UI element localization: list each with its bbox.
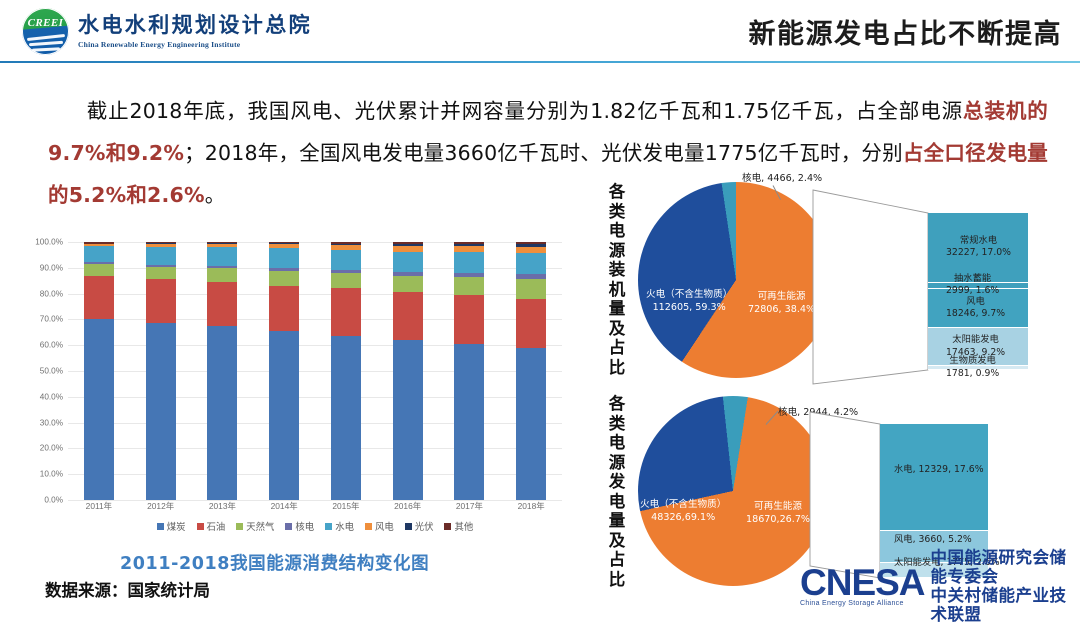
stacked-bar bbox=[454, 242, 484, 500]
bar-segment-煤炭 bbox=[207, 326, 237, 500]
creei-logo-icon: CREEI bbox=[22, 8, 69, 55]
bar-segment-石油 bbox=[516, 299, 546, 348]
breakout-label: 生物质发电1781, 0.9% bbox=[946, 355, 999, 380]
org-name-en: China Renewable Energy Engineering Insti… bbox=[78, 40, 312, 49]
bar-segment-煤炭 bbox=[516, 348, 546, 500]
x-axis-tick-label: 2011年 bbox=[75, 500, 123, 512]
legend-label: 光伏 bbox=[415, 519, 434, 533]
legend-swatch-icon bbox=[325, 523, 332, 530]
legend-item-核电[interactable]: 核电 bbox=[285, 519, 314, 533]
page-title: 新能源发电占比不断提高 bbox=[749, 12, 1063, 51]
bar-segment-天然气 bbox=[84, 264, 114, 276]
wave-icon bbox=[32, 47, 60, 51]
y-axis-tick-label: 10.0% bbox=[40, 470, 63, 479]
legend-item-煤炭[interactable]: 煤炭 bbox=[157, 519, 186, 533]
legend-swatch-icon bbox=[365, 523, 372, 530]
legend-label: 风电 bbox=[375, 519, 394, 533]
legend-swatch-icon bbox=[444, 523, 451, 530]
bar-segment-水电 bbox=[331, 250, 361, 270]
y-axis-tick-label: 80.0% bbox=[40, 289, 63, 298]
bar-segment-天然气 bbox=[393, 276, 423, 292]
bar-segment-煤炭 bbox=[84, 319, 114, 500]
bar-group bbox=[68, 242, 562, 500]
stacked-bar bbox=[84, 242, 114, 500]
bar-segment-煤炭 bbox=[393, 340, 423, 500]
bar-segment-风电 bbox=[516, 247, 546, 254]
stacked-bar bbox=[269, 242, 299, 500]
breakout-label-value: 18246, 9.7% bbox=[946, 308, 1005, 321]
y-axis-tick-label: 90.0% bbox=[40, 263, 63, 272]
bar-segment-天然气 bbox=[331, 273, 361, 288]
bar-segment-煤炭 bbox=[331, 336, 361, 500]
capacity-pie-block: 各类电源装机量及占比 火电（不含生物质）112605, 59.3% 可再生能源7… bbox=[598, 170, 1080, 395]
y-axis-tick-label: 20.0% bbox=[40, 444, 63, 453]
legend-item-石油[interactable]: 石油 bbox=[197, 519, 226, 533]
bar-segment-石油 bbox=[146, 279, 176, 323]
legend-item-风电[interactable]: 风电 bbox=[365, 519, 394, 533]
bar-segment-天然气 bbox=[146, 267, 176, 279]
legend-item-其他[interactable]: 其他 bbox=[444, 519, 473, 533]
stacked-bar bbox=[516, 242, 546, 500]
wave-icon bbox=[29, 41, 63, 46]
slide-header: CREEI 水电水利规划设计总院 China Renewable Energy … bbox=[0, 0, 1080, 62]
data-source-note: 数据来源：国家统计局 bbox=[45, 577, 210, 601]
y-axis-tick-label: 30.0% bbox=[40, 418, 63, 427]
breakout-label-name: 风电 bbox=[946, 296, 1005, 309]
legend-label: 其他 bbox=[454, 519, 473, 533]
stacked-bar bbox=[146, 242, 176, 500]
legend-label: 煤炭 bbox=[167, 519, 186, 533]
bar-segment-天然气 bbox=[269, 271, 299, 286]
breakout-label-value: 32227, 17.0% bbox=[946, 247, 1011, 260]
bar-plot-area: 0.0%10.0%20.0%30.0%40.0%50.0%60.0%70.0%8… bbox=[68, 242, 562, 500]
bar-segment-水电 bbox=[146, 247, 176, 265]
breakout-label-name: 生物质发电 bbox=[946, 355, 999, 368]
bar-segment-石油 bbox=[454, 295, 484, 344]
watermark-brand: CNESA bbox=[800, 565, 925, 600]
bar-chart-title: 2011-2018我国能源消费结构变化图 bbox=[120, 550, 429, 575]
bar-segment-水电 bbox=[207, 247, 237, 266]
legend-swatch-icon bbox=[157, 523, 164, 530]
stacked-bar bbox=[393, 242, 423, 500]
stacked-bar bbox=[331, 242, 361, 500]
legend-swatch-icon bbox=[285, 523, 292, 530]
cnesa-watermark: CNESA China Energy Storage Alliance 中国能源… bbox=[800, 548, 1080, 624]
legend-item-水电[interactable]: 水电 bbox=[325, 519, 354, 533]
legend-swatch-icon bbox=[197, 523, 204, 530]
legend-item-光伏[interactable]: 光伏 bbox=[405, 519, 434, 533]
legend-label: 水电 bbox=[335, 519, 354, 533]
bar-segment-天然气 bbox=[454, 277, 484, 295]
breakout-label-name: 常规水电 bbox=[946, 235, 1011, 248]
breakout-segment-水电 bbox=[880, 424, 988, 531]
body-line-3-b: 。 bbox=[205, 183, 226, 207]
bar-segment-石油 bbox=[207, 282, 237, 326]
bar-legend: 煤炭石油天然气核电水电风电光伏其他 bbox=[68, 519, 562, 533]
bar-segment-石油 bbox=[331, 288, 361, 335]
bar-segment-石油 bbox=[269, 286, 299, 331]
breakout-label: 风电18246, 9.7% bbox=[946, 296, 1005, 321]
header-divider bbox=[0, 61, 1080, 63]
legend-swatch-icon bbox=[405, 523, 412, 530]
legend-swatch-icon bbox=[236, 523, 243, 530]
legend-label: 核电 bbox=[295, 519, 314, 533]
x-axis-tick-label: 2015年 bbox=[322, 500, 370, 512]
breakout-label-inline: 水电, 12329, 17.6% bbox=[894, 464, 984, 477]
legend-label: 石油 bbox=[207, 519, 226, 533]
breakout-label: 水电, 12329, 17.6% bbox=[894, 464, 984, 477]
body-line-2-a: 电源 bbox=[920, 99, 963, 123]
stacked-bar bbox=[207, 242, 237, 500]
bar-segment-煤炭 bbox=[454, 344, 484, 500]
watermark-cn-line-1: 中国能源研究会储能专委会 bbox=[931, 548, 1080, 586]
legend-label: 天然气 bbox=[246, 519, 274, 533]
org-logo: CREEI 水电水利规划设计总院 China Renewable Energy … bbox=[22, 8, 312, 55]
breakout-label: 常规水电32227, 17.0% bbox=[946, 235, 1011, 260]
body-line-2-b: ；2018年，全国风电发电量3660亿千瓦时、光伏发电量1775亿千 bbox=[184, 141, 799, 165]
breakout-label: 风电, 3660, 5.2% bbox=[894, 534, 972, 547]
body-line-1: 截止2018年底，我国风电、光伏累计并网容量分别为1.82亿千瓦和1.75亿千瓦… bbox=[86, 99, 920, 123]
bar-segment-煤炭 bbox=[269, 331, 299, 500]
y-axis-tick-label: 0.0% bbox=[44, 496, 63, 505]
y-axis-tick-label: 70.0% bbox=[40, 315, 63, 324]
x-axis-tick-label: 2012年 bbox=[137, 500, 185, 512]
bar-segment-水电 bbox=[84, 246, 114, 261]
x-axis-tick-label: 2014年 bbox=[260, 500, 308, 512]
breakout-label-inline: 风电, 3660, 5.2% bbox=[894, 534, 972, 547]
y-axis-tick-label: 40.0% bbox=[40, 392, 63, 401]
y-axis-tick-label: 60.0% bbox=[40, 341, 63, 350]
breakout-label-value: 1781, 0.9% bbox=[946, 368, 999, 381]
legend-item-天然气[interactable]: 天然气 bbox=[236, 519, 274, 533]
watermark-cn-line-2: 中关村储能产业技术联盟 bbox=[931, 586, 1080, 624]
x-axis-tick-label: 2018年 bbox=[507, 500, 555, 512]
x-axis-tick-label: 2017年 bbox=[445, 500, 493, 512]
bar-segment-石油 bbox=[84, 276, 114, 319]
breakout-label: 抽水蓄能2999, 1.6% bbox=[946, 273, 999, 298]
bar-x-axis: 2011年2012年2013年2014年2015年2016年2017年2018年 bbox=[68, 500, 562, 512]
x-axis-tick-label: 2016年 bbox=[384, 500, 432, 512]
logo-mark-text: CREEI bbox=[22, 17, 69, 29]
bar-segment-煤炭 bbox=[146, 323, 176, 500]
y-axis-tick-label: 100.0% bbox=[35, 238, 63, 247]
slide-root: CREEI 水电水利规划设计总院 China Renewable Energy … bbox=[0, 0, 1080, 608]
bar-segment-天然气 bbox=[516, 279, 546, 299]
bar-segment-水电 bbox=[454, 252, 484, 273]
bar-segment-天然气 bbox=[207, 268, 237, 282]
breakout-label-name: 抽水蓄能 bbox=[946, 273, 999, 286]
energy-mix-bar-chart: 0.0%10.0%20.0%30.0%40.0%50.0%60.0%70.0%8… bbox=[24, 236, 570, 536]
bar-segment-石油 bbox=[393, 292, 423, 340]
bar-segment-水电 bbox=[269, 248, 299, 268]
org-name-cn: 水电水利规划设计总院 bbox=[78, 14, 312, 36]
body-line-3-a: 瓦时，分别 bbox=[799, 141, 903, 165]
bar-segment-水电 bbox=[393, 252, 423, 273]
x-axis-tick-label: 2013年 bbox=[198, 500, 246, 512]
bar-segment-水电 bbox=[516, 253, 546, 274]
wave-icon bbox=[27, 34, 65, 41]
breakout-label-name: 太阳能发电 bbox=[946, 334, 1005, 347]
y-axis-tick-label: 50.0% bbox=[40, 367, 63, 376]
